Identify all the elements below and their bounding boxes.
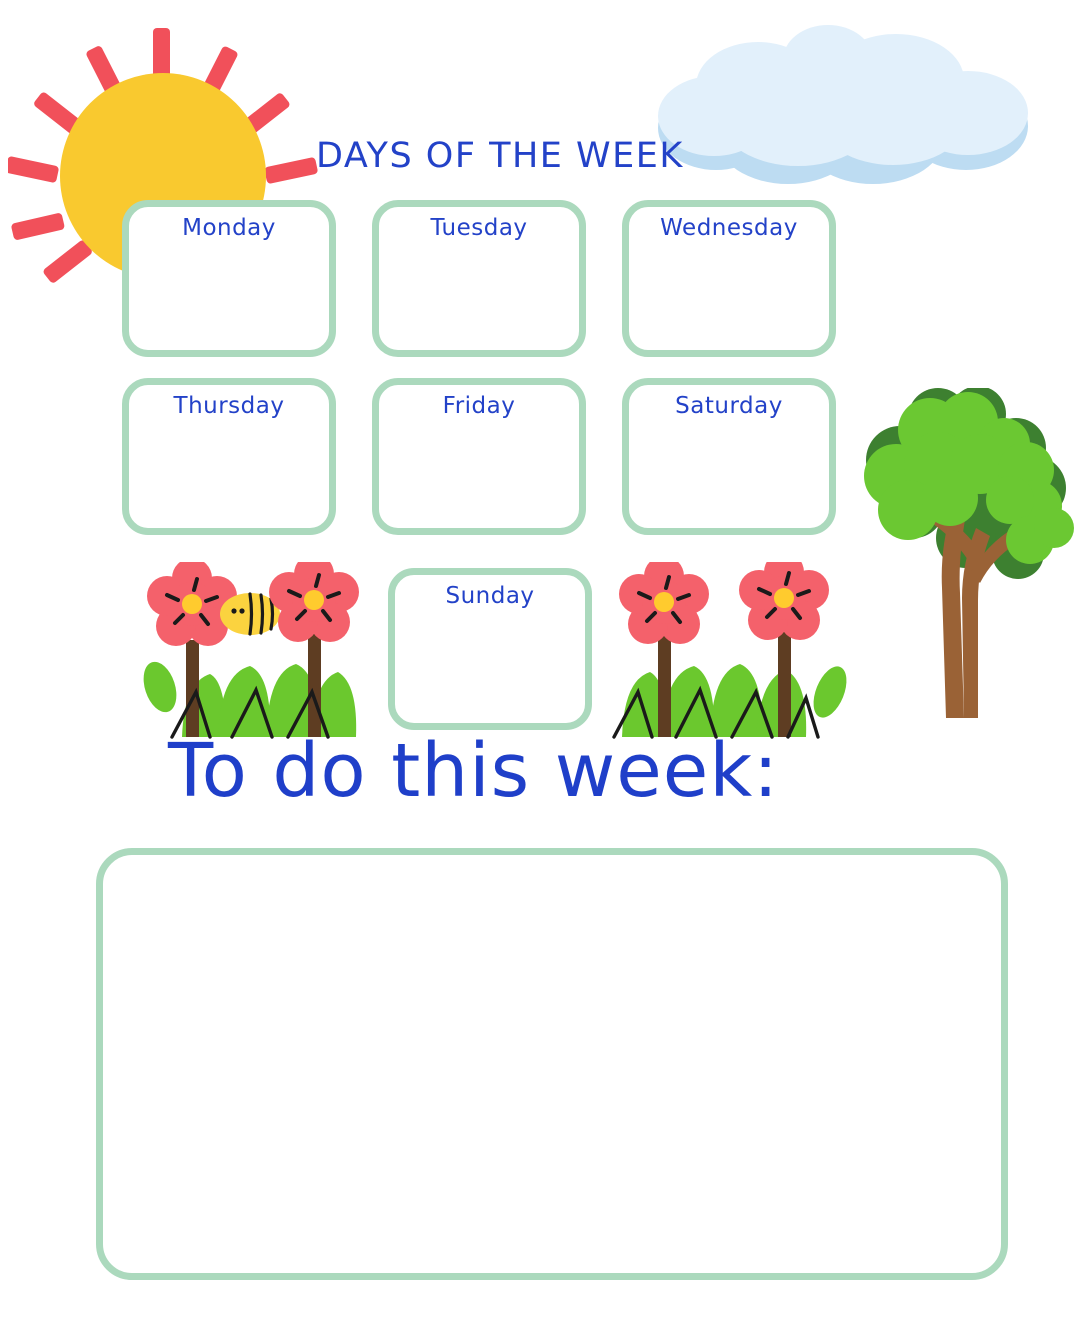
page-title: DAYS OF THE WEEK	[316, 136, 684, 176]
day-box-saturday[interactable]: Saturday	[622, 378, 836, 535]
planner-page: DAYS OF THE WEEK Monday Tuesday Wednesda…	[0, 0, 1080, 1320]
todo-write-area[interactable]	[96, 848, 1008, 1280]
day-box-sunday[interactable]: Sunday	[388, 568, 592, 730]
day-label-sunday: Sunday	[395, 583, 585, 609]
tree-icon	[858, 388, 1080, 733]
day-label-wednesday: Wednesday	[629, 215, 829, 241]
day-label-thursday: Thursday	[129, 393, 329, 419]
day-label-tuesday: Tuesday	[379, 215, 579, 241]
day-label-friday: Friday	[379, 393, 579, 419]
day-box-wednesday[interactable]: Wednesday	[622, 200, 836, 357]
flower-cluster-icon	[140, 562, 375, 742]
flower-cluster-icon	[606, 562, 861, 742]
cloud-icon	[648, 18, 1048, 193]
todo-heading: To do this week:	[168, 734, 779, 808]
day-box-monday[interactable]: Monday	[122, 200, 336, 357]
day-box-friday[interactable]: Friday	[372, 378, 586, 535]
day-label-saturday: Saturday	[629, 393, 829, 419]
day-box-thursday[interactable]: Thursday	[122, 378, 336, 535]
day-label-monday: Monday	[129, 215, 329, 241]
day-box-tuesday[interactable]: Tuesday	[372, 200, 586, 357]
